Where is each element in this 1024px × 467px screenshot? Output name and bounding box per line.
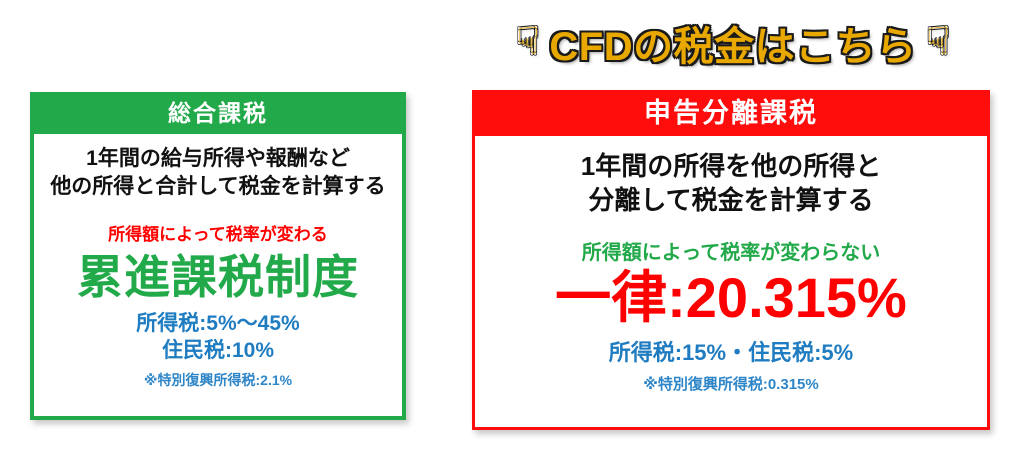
- card-comprehensive-taxation: 総合課税 1年間の給与所得や報酬など 他の所得と合計して税金を計算する 所得額に…: [30, 92, 406, 420]
- card-separate-taxation: 申告分離課税 1年間の所得を他の所得と 分離して税金を計算する 所得額によって税…: [472, 90, 990, 430]
- card-header-comprehensive-taxation: 総合課税: [30, 92, 406, 134]
- card-highlight-note: 所得額によって税率が変わる: [42, 220, 394, 245]
- card-header-separate-taxation: 申告分離課税: [472, 90, 990, 136]
- card-footnote: ※特別復興所得税:0.315%: [483, 373, 979, 394]
- headline-title: CFDの税金はこちら: [549, 14, 916, 72]
- card-big-value: 一律:20.315%: [483, 269, 979, 328]
- card-footnote: ※特別復興所得税:2.1%: [42, 370, 394, 390]
- card-body-separate-taxation: 1年間の所得を他の所得と 分離して税金を計算する 所得額によって税率が変わらない…: [475, 136, 987, 394]
- card-rate-lines: 所得税:5%〜45% 住民税:10%: [42, 310, 394, 365]
- card-description: 1年間の所得を他の所得と 分離して税金を計算する: [483, 149, 979, 218]
- card-rate-lines: 所得税:15%・住民税:5%: [483, 339, 979, 368]
- pointing-hand-down-icon-right: ☟: [927, 23, 950, 61]
- card-body-comprehensive-taxation: 1年間の給与所得や報酬など 他の所得と合計して税金を計算する 所得額によって税率…: [34, 134, 402, 390]
- pointing-hand-down-icon-left: ☟: [516, 23, 539, 61]
- card-big-value: 累進課税制度: [42, 253, 394, 301]
- card-highlight-note: 所得額によって税率が変わらない: [483, 236, 979, 265]
- card-description: 1年間の給与所得や報酬など 他の所得と合計して税金を計算する: [42, 145, 394, 200]
- headline-banner: ☟ CFDの税金はこちら ☟: [466, 12, 1000, 74]
